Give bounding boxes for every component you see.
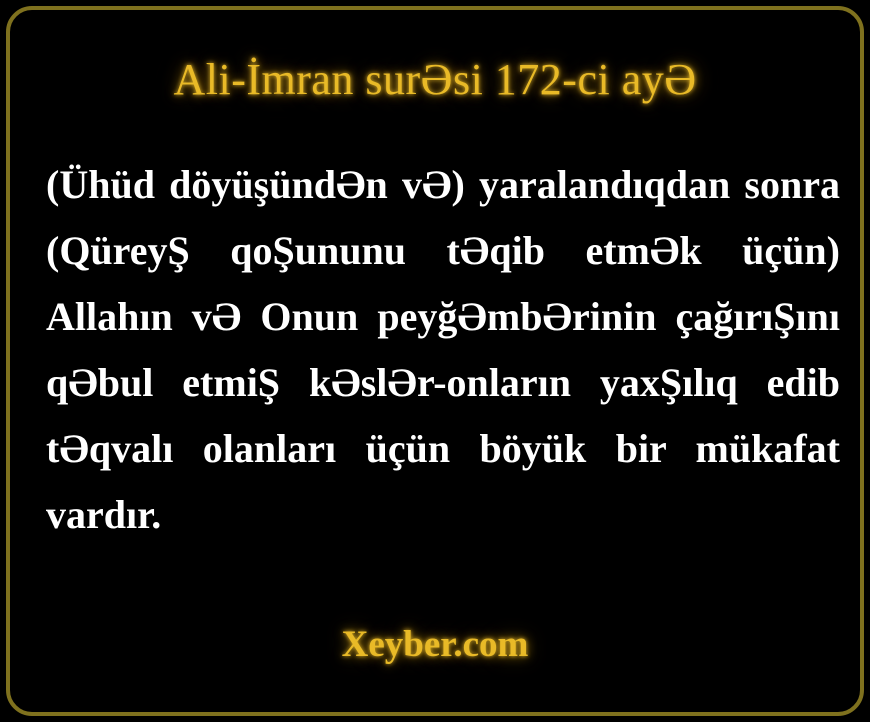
verse-card: Ali-İmran surƏsi 172-ci ayƏ (Ühüd döyüşü… [0, 0, 870, 722]
gold-border-frame: Ali-İmran surƏsi 172-ci ayƏ (Ühüd döyüşü… [6, 6, 864, 716]
page-title: Ali-İmran surƏsi 172-ci ayƏ [10, 54, 860, 105]
watermark-label: Xeyber.com [10, 623, 860, 666]
verse-body-text: (Ühüd döyüşündƏn vƏ) yaralandıqdan sonra… [46, 152, 840, 548]
